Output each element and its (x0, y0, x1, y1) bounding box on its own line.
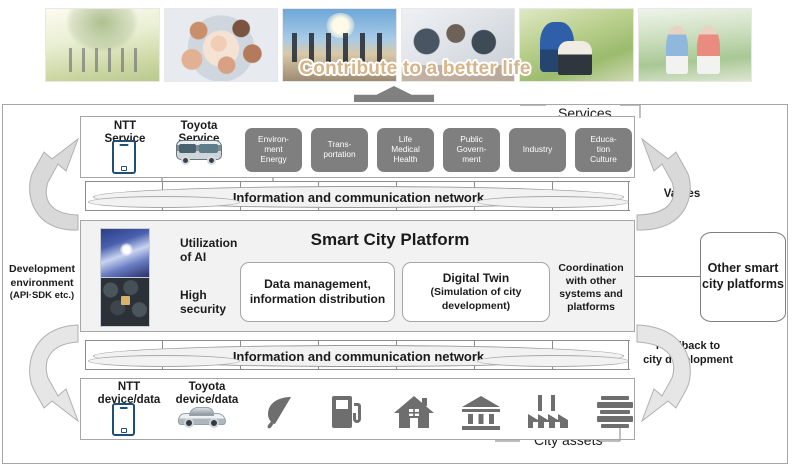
service-domain-education-culture[interactable]: Educa- tion Culture (575, 128, 632, 172)
svc2-l2: Health (391, 155, 420, 165)
service-domain-life-medical-health[interactable]: Life Medical Health (377, 128, 434, 172)
upward-arrow-icon (354, 86, 434, 102)
ai-label-line2: of AI (180, 250, 206, 264)
toyota-device-data-label: Toyota device/data (168, 381, 246, 407)
lower-network-band: Information and communication network (85, 340, 630, 370)
card-data-management-title: Data management, information distributio… (247, 277, 388, 307)
dev-env-line1: Development (9, 263, 75, 275)
card-digital-twin-title: Digital Twin (443, 271, 509, 285)
toyota-dev-line1: Toyota (189, 381, 226, 393)
feedback-label: Feedback to city development (628, 340, 748, 368)
card-digital-twin[interactable]: Digital Twin (Simulation of city develop… (402, 262, 550, 322)
toyota-service-line1: Toyota (181, 120, 218, 132)
service-domain-transportation[interactable]: Trans- portation (311, 128, 368, 172)
service-domain-environment-energy[interactable]: Environ- ment Energy (245, 128, 302, 172)
autonomous-shuttle-icon (176, 140, 222, 166)
values-label: Values (652, 188, 712, 200)
development-environment-label: Development environment (API·SDK etc.) (3, 263, 81, 303)
svc4-l0: Industry (523, 145, 553, 155)
svc0-l2: Energy (258, 155, 289, 165)
ntt-service-line1: NTT (114, 120, 136, 132)
svc3-l2: ment (457, 155, 487, 165)
high-security-label: High security (180, 288, 240, 317)
service-domain-public-government[interactable]: Public Govern- ment (443, 128, 500, 172)
feedback-line1: Feedback to (656, 340, 720, 352)
leaf-icon (258, 392, 302, 432)
sec-label-line1: High (180, 288, 207, 302)
dev-env-line2: environment (10, 277, 73, 289)
sec-label-line2: security (180, 302, 226, 316)
card-digital-twin-sub: (Simulation of city development) (409, 286, 543, 312)
smartphone-icon (112, 140, 136, 174)
ntt-dev-line1: NTT (118, 381, 140, 393)
dev-env-line3: (API·SDK etc.) (3, 290, 81, 302)
banner-headline: Contribute to a better life (255, 58, 575, 80)
security-padlock-thumbnail (100, 277, 150, 327)
coordination-label: Coordination with other systems and plat… (552, 262, 630, 315)
upper-network-band: Information and communication network (85, 181, 630, 211)
car-icon (178, 404, 226, 428)
platform-title: Smart City Platform (240, 230, 540, 250)
ai-city-network-thumbnail (100, 228, 150, 278)
svc5-l2: Culture (590, 155, 617, 165)
upper-network-label: Information and communication network (93, 186, 624, 208)
platform-connector-line (635, 276, 701, 277)
card-data-management[interactable]: Data management, information distributio… (240, 262, 395, 322)
photo-family-walking-park (45, 8, 160, 82)
factory-icon (526, 392, 570, 432)
photo-senior-couple-walking (638, 8, 753, 82)
fuel-pump-icon (325, 392, 369, 432)
feedback-line2: city development (643, 354, 733, 366)
house-icon (392, 392, 436, 432)
ai-label-line1: Utilization (180, 236, 237, 250)
svc1-l1: portation (323, 150, 355, 160)
service-domain-industry[interactable]: Industry (509, 128, 566, 172)
lower-network-label: Information and communication network (93, 345, 624, 367)
smartphone-icon (112, 403, 135, 436)
government-building-icon (459, 392, 503, 432)
other-smart-city-platforms-box[interactable]: Other smart city platforms (700, 232, 786, 322)
books-icon (593, 392, 637, 432)
